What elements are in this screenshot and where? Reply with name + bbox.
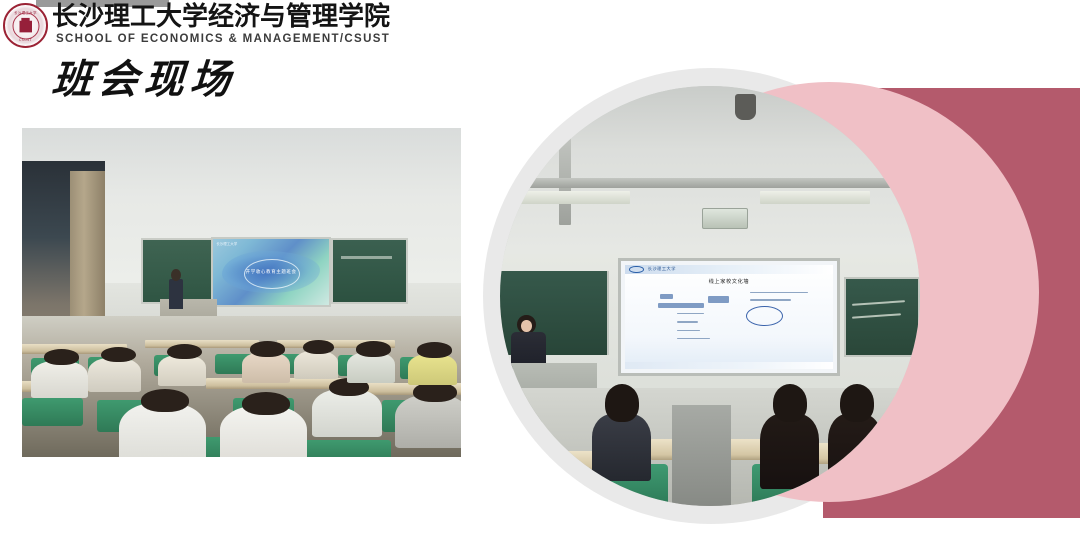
institution-title-cn: 长沙理工大学经济与管理学院 (52, 2, 390, 32)
slide-bullet-line (750, 299, 792, 300)
slide-graphic (658, 303, 704, 307)
student-head (141, 389, 189, 412)
student-head (417, 342, 452, 358)
projector-screen-circular-photo: 长沙理工大学 线上家校文化墙 (618, 258, 841, 376)
student-head (44, 349, 79, 365)
blackboard-right (331, 238, 408, 304)
student-torso (242, 352, 290, 383)
slide-bullet-line (677, 338, 710, 339)
projector (702, 208, 748, 229)
student-torso (31, 361, 88, 398)
seal-text-bottom: CSUST (5, 38, 46, 42)
student-head (356, 341, 391, 357)
student-head (242, 392, 290, 415)
slide-footer-bar (625, 362, 833, 369)
slide-bullet-line (677, 330, 700, 331)
university-logo-icon (629, 266, 644, 273)
student-head (413, 382, 457, 402)
slide-bullet-line (750, 292, 808, 293)
student-torso (347, 352, 395, 383)
slide-university-tag: 长沙理工大学 (216, 242, 237, 247)
slide-bullet-line (677, 313, 704, 314)
slide-graphic (660, 294, 672, 299)
institution-subtitle-en: SCHOOL OF ECONOMICS & MANAGEMENT/CSUST (56, 33, 390, 45)
slide-title-text: 开学收心教育主题班会 (213, 269, 330, 275)
student-head (167, 344, 202, 360)
student-torso (408, 354, 456, 385)
projector-screen-left-photo: 长沙理工大学 开学收心教育主题班会 (211, 237, 332, 308)
student-torso (294, 351, 338, 379)
ceiling-light (760, 191, 869, 204)
chair (521, 468, 588, 506)
student-torso (828, 414, 883, 490)
csust-university-seal-icon: 长沙理工大学 CSUST (3, 3, 48, 48)
presenter-body (169, 279, 183, 309)
student-seating-area (22, 316, 461, 457)
chalk-writing (852, 300, 905, 305)
slide-canvas: 长沙理工大学 CSUST 长沙理工大学经济与管理学院 SCHOOL OF ECO… (0, 0, 1080, 537)
slide-header: 长沙理工大学 CSUST 长沙理工大学经济与管理学院 SCHOOL OF ECO… (0, 0, 400, 52)
student-torso (88, 358, 141, 392)
slide-university-name: 长沙理工大学 (648, 266, 676, 272)
slide-title-text: 线上家校文化墙 (625, 278, 833, 285)
foreground-pillar (672, 405, 731, 506)
student-torso (592, 414, 651, 481)
presentation-slide: 长沙理工大学 线上家校文化墙 (625, 265, 833, 370)
student-head (303, 340, 334, 354)
student-head (101, 347, 136, 363)
slide-bullet-line (677, 321, 698, 322)
slide-seal-graphic (746, 306, 783, 326)
desk (145, 340, 259, 348)
student-head (605, 384, 639, 422)
student-head (840, 384, 874, 422)
student-torso (395, 395, 461, 449)
student-torso (158, 355, 206, 386)
slide-graphic (708, 296, 729, 303)
ceiling-beam (500, 178, 920, 187)
chalk-writing (852, 314, 901, 319)
student-torso (312, 389, 382, 437)
classroom-photo-left: 长沙理工大学 开学收心教育主题班会 (22, 128, 461, 457)
ceiling-lamp-icon (735, 94, 756, 119)
classroom-photo-circular: 长沙理工大学 线上家校文化墙 (500, 86, 920, 506)
page-title: 班会现场 (50, 55, 237, 105)
student-torso (760, 414, 819, 490)
student-head (250, 341, 285, 357)
blackboard-right (844, 277, 920, 357)
ceiling-light (521, 191, 630, 204)
chair (294, 440, 391, 457)
student-head (773, 384, 807, 422)
chair (22, 398, 83, 426)
circular-photo-composition: 长沙理工大学 线上家校文化墙 (483, 57, 1080, 537)
